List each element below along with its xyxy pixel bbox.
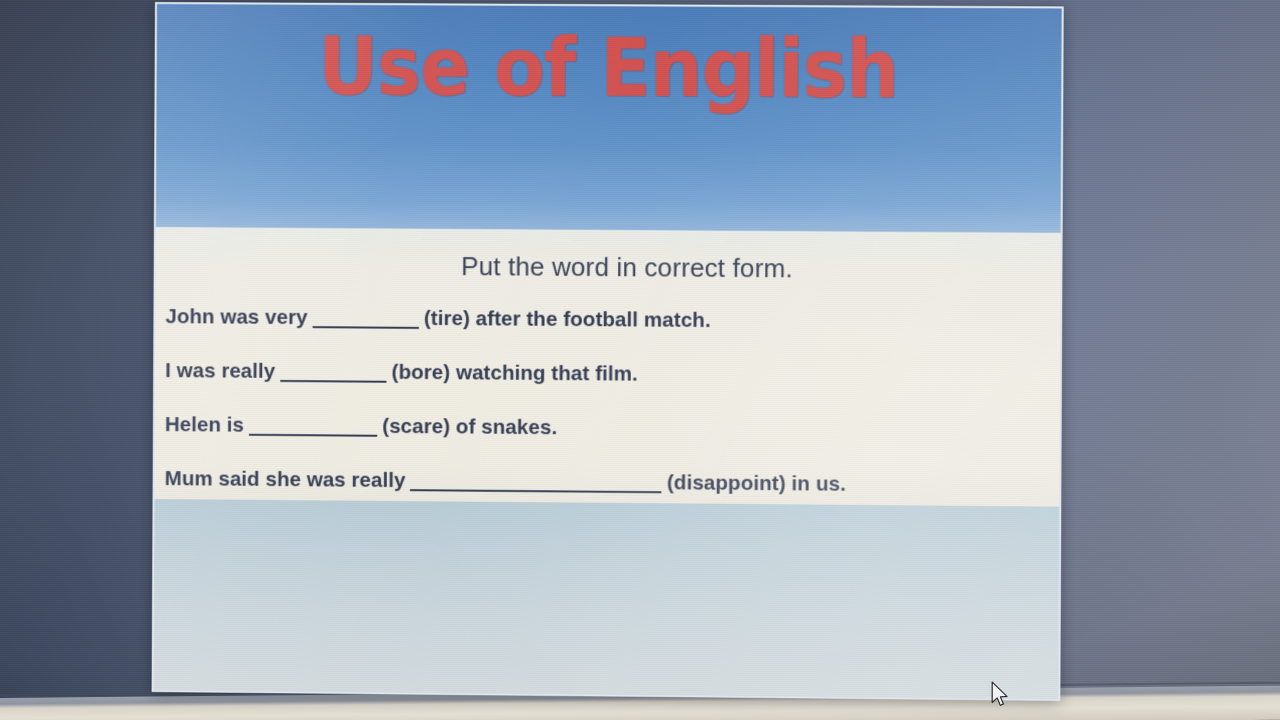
question-text-before: Helen is bbox=[165, 413, 244, 437]
answer-blank[interactable] bbox=[313, 326, 419, 329]
question-text-after: (scare) of snakes. bbox=[382, 415, 557, 439]
question-text-before: John was very bbox=[165, 305, 307, 329]
answer-blank[interactable] bbox=[410, 489, 661, 493]
answer-blank[interactable] bbox=[249, 434, 377, 437]
question-text-before: Mum said she was really bbox=[165, 467, 406, 492]
answer-blank[interactable] bbox=[280, 380, 386, 383]
presentation-slide[interactable]: Use of English Put the word in correct f… bbox=[152, 2, 1064, 701]
question-item: Helen is(scare) of snakes. bbox=[165, 413, 1050, 444]
question-item: I was really(bore) watching that film. bbox=[165, 359, 1050, 390]
instruction-heading: Put the word in correct form. bbox=[156, 249, 1061, 286]
question-text-before: I was really bbox=[165, 359, 275, 383]
question-text-after: (disappoint) in us. bbox=[667, 471, 846, 496]
slide-title: Use of English bbox=[192, 26, 1025, 111]
question-list: John was very(tire) after the football m… bbox=[165, 305, 1050, 498]
slide-surface: Use of English Put the word in correct f… bbox=[152, 2, 1064, 701]
question-item: John was very(tire) after the football m… bbox=[165, 305, 1050, 335]
question-item: Mum said she was really(disappoint) in u… bbox=[165, 467, 1050, 498]
photographed-screen-scene: Use of English Put the word in correct f… bbox=[0, 0, 1280, 720]
slide-header-band: Use of English bbox=[156, 4, 1062, 233]
slide-body-band: Put the word in correct form. John was v… bbox=[155, 227, 1061, 507]
slide-footer-band bbox=[154, 499, 1060, 699]
question-text-after: (bore) watching that film. bbox=[392, 361, 638, 386]
question-text-after: (tire) after the football match. bbox=[424, 307, 711, 332]
